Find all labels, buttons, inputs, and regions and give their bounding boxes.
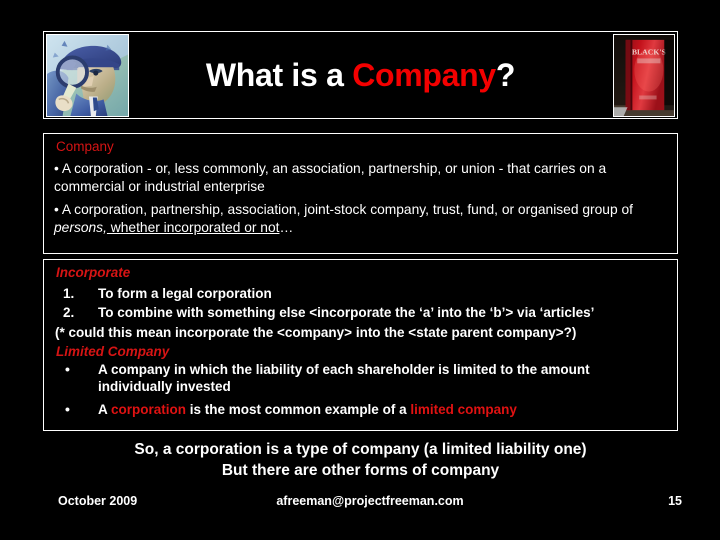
law-dictionary-image: BLACK'S bbox=[613, 34, 675, 117]
footer-email: afreeman@projectfreeman.com bbox=[58, 494, 682, 508]
list-item: • A company in which the liability of ea… bbox=[56, 362, 667, 396]
company-def2-prefix: • A corporation, partnership, associatio… bbox=[54, 202, 633, 217]
conclusion-line-1: So, a corporation is a type of company (… bbox=[43, 440, 678, 461]
svg-text:BLACK'S: BLACK'S bbox=[632, 47, 666, 56]
list-item: 2. To combine with something else <incor… bbox=[56, 303, 667, 323]
list-item: 1. To form a legal corporation bbox=[56, 284, 667, 304]
incorporate-numbered-list: 1. To form a legal corporation 2. To com… bbox=[54, 284, 667, 323]
list-text: To combine with something else <incorpor… bbox=[98, 305, 594, 320]
title-part-accent: Company bbox=[352, 57, 496, 93]
list-number: 2. bbox=[63, 303, 74, 323]
company-def2-italic: persons, bbox=[54, 220, 107, 235]
company-def2-underline: whether incorporated or not bbox=[107, 220, 280, 235]
list-text: A company in which the liability of each… bbox=[98, 362, 590, 394]
list-text: A corporation is the most common example… bbox=[98, 402, 517, 417]
footer-page-number: 15 bbox=[668, 494, 682, 508]
term-incorporate: Incorporate bbox=[56, 265, 667, 282]
list-item: • A corporation is the most common examp… bbox=[56, 402, 667, 419]
bullet2-red2: limited company bbox=[410, 402, 517, 417]
bullet2-part1: A bbox=[98, 402, 111, 417]
company-definition-2: • A corporation, partnership, associatio… bbox=[54, 201, 667, 237]
term-company: Company bbox=[56, 139, 667, 156]
definition-box-incorporate: Incorporate 1. To form a legal corporati… bbox=[43, 259, 678, 431]
definition-box-company: Company • A corporation - or, less commo… bbox=[43, 133, 678, 254]
page-title: What is a Company? bbox=[44, 59, 677, 91]
bullet-icon: • bbox=[65, 401, 70, 419]
bullet-icon: • bbox=[65, 361, 70, 379]
title-bar: What is a Company? bbox=[43, 31, 678, 119]
title-part-after: ? bbox=[496, 57, 515, 93]
conclusion-text: So, a corporation is a type of company (… bbox=[43, 440, 678, 482]
title-part-before: What is a bbox=[206, 57, 352, 93]
conclusion-line-2: But there are other forms of company bbox=[43, 461, 678, 482]
slide-canvas: What is a Company? bbox=[0, 0, 720, 540]
list-text: To form a legal corporation bbox=[98, 286, 272, 301]
slide-footer: October 2009 afreeman@projectfreeman.com… bbox=[58, 494, 682, 514]
list-number: 1. bbox=[63, 284, 74, 304]
term-limited-company: Limited Company bbox=[56, 344, 667, 361]
bullet2-red1: corporation bbox=[111, 402, 186, 417]
company-def2-suffix: … bbox=[279, 220, 293, 235]
bullet2-part2: is the most common example of a bbox=[186, 402, 410, 417]
company-definition-1: • A corporation - or, less commonly, an … bbox=[54, 160, 667, 196]
law-book-photo-icon: BLACK'S bbox=[614, 35, 674, 116]
incorporate-note: (* could this mean incorporate the <comp… bbox=[55, 323, 667, 343]
limited-company-bullet-list: • A company in which the liability of ea… bbox=[54, 362, 667, 419]
